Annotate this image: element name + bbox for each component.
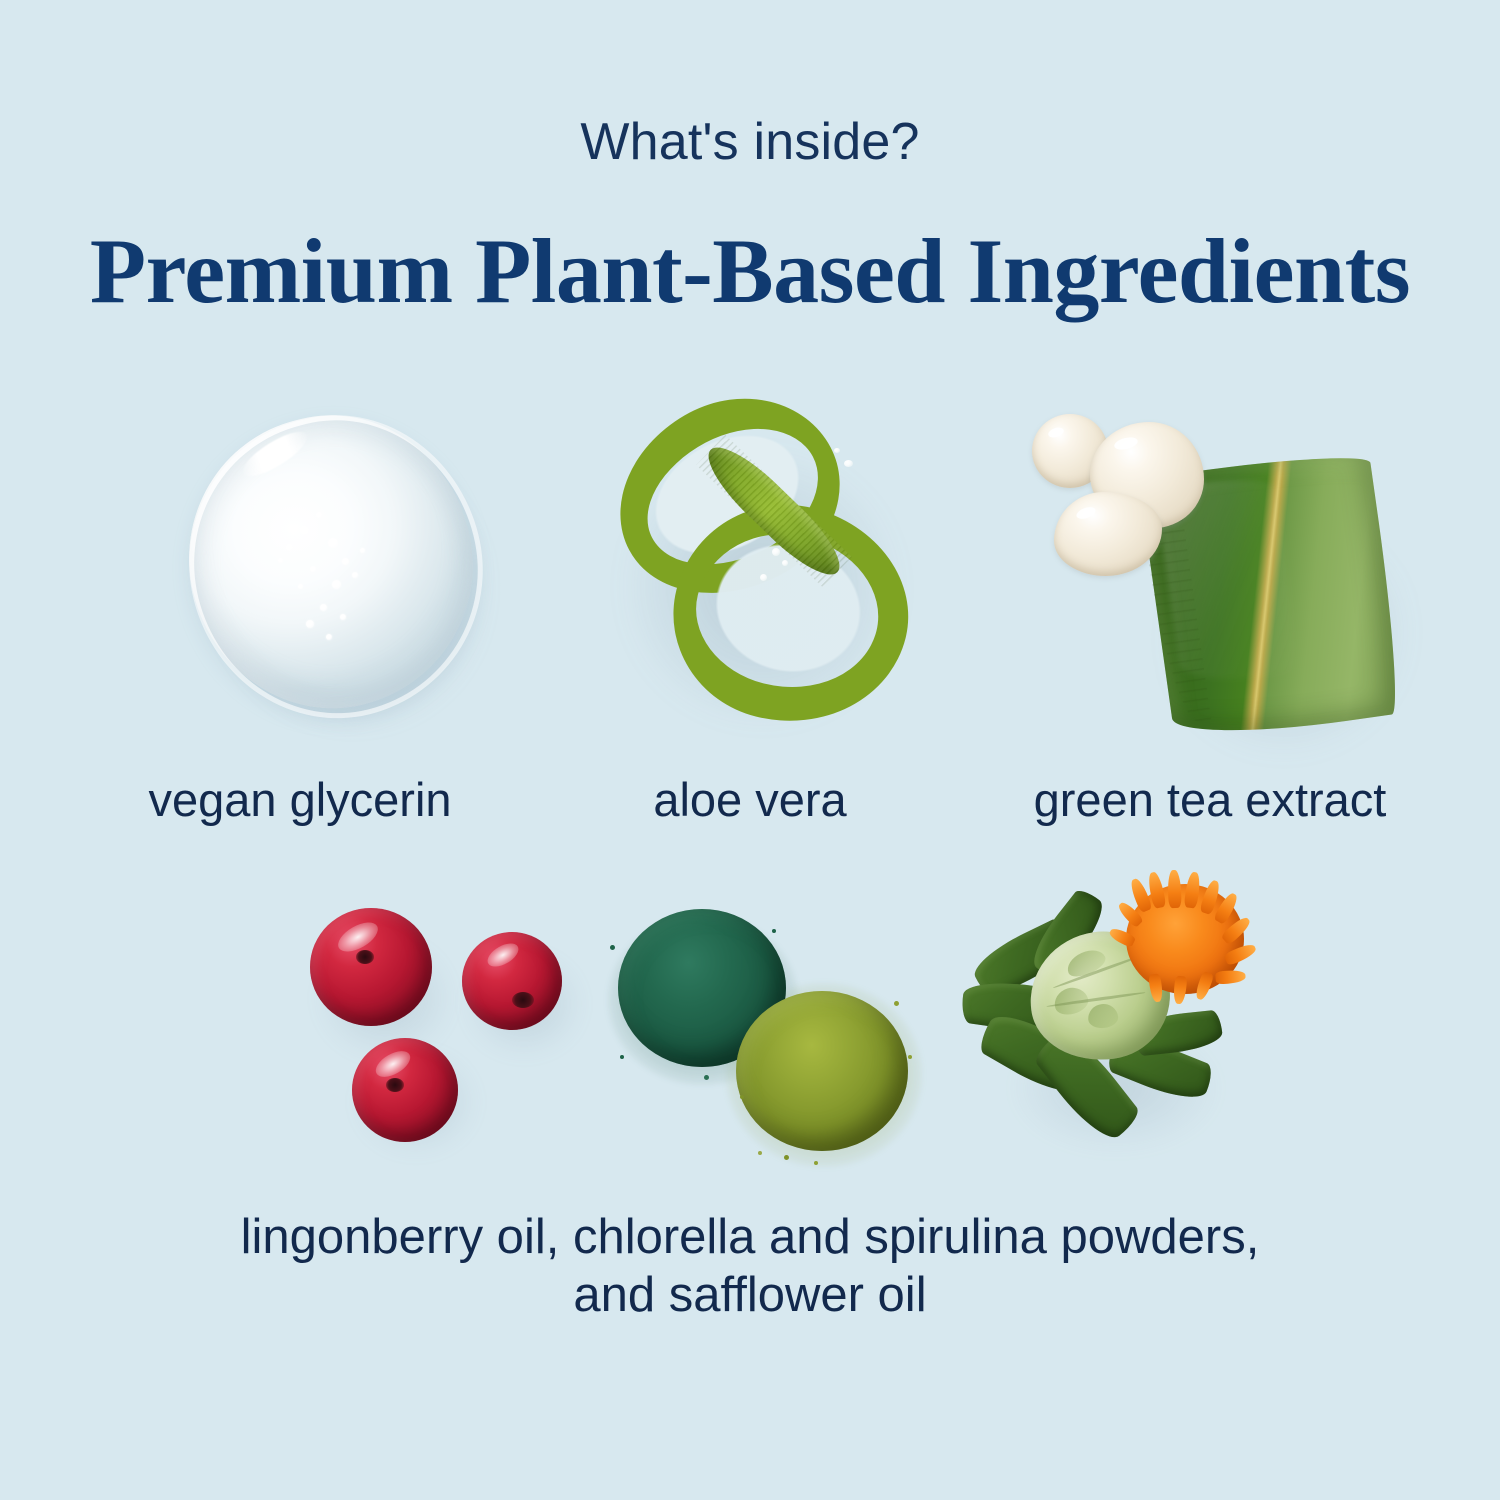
glycerin-bubble bbox=[310, 566, 316, 572]
powder-grain bbox=[758, 1151, 762, 1155]
glycerin-bubble bbox=[278, 558, 283, 563]
ingredient-label-green-tea-extract: green tea extract bbox=[930, 772, 1490, 827]
glycerin-bubble bbox=[360, 548, 365, 553]
aloe-gel-droplet bbox=[834, 448, 840, 453]
powder-grain bbox=[740, 1095, 744, 1099]
powder-grain bbox=[894, 1001, 899, 1006]
aloe-gel-droplet bbox=[844, 460, 853, 467]
glycerin-gel-rim bbox=[158, 385, 514, 749]
powder-grain bbox=[814, 1161, 818, 1165]
aloe-vera-image bbox=[600, 398, 930, 738]
aloe-gel-droplet bbox=[760, 574, 767, 581]
powder-grain bbox=[610, 945, 615, 950]
glycerin-bubble bbox=[298, 584, 303, 589]
ingredient-label-vegan-glycerin: vegan glycerin bbox=[0, 772, 600, 827]
green-tea-extract-image bbox=[1018, 404, 1418, 756]
lingonberry-calyx bbox=[512, 992, 534, 1008]
vegan-glycerin-image bbox=[182, 408, 492, 733]
glycerin-bubble bbox=[340, 614, 346, 620]
safflower-image bbox=[958, 878, 1268, 1168]
powders-image bbox=[608, 905, 928, 1170]
glycerin-bubble bbox=[328, 538, 338, 548]
eyebrow-text: What's inside? bbox=[0, 112, 1500, 172]
chlorella-powder-pile bbox=[736, 991, 908, 1151]
lingonberry-image bbox=[300, 898, 600, 1148]
glycerin-bubble bbox=[320, 604, 327, 611]
row2-caption-line2: and safflower oil bbox=[0, 1266, 1500, 1324]
glycerin-bubble bbox=[352, 572, 358, 578]
glycerin-bubble bbox=[326, 634, 332, 640]
glycerin-bubble bbox=[300, 526, 309, 535]
row2-caption: lingonberry oil, chlorella and spirulina… bbox=[0, 1208, 1500, 1324]
powder-grain bbox=[784, 1155, 789, 1160]
powder-grain bbox=[620, 1055, 624, 1059]
ingredient-label-aloe-vera: aloe vera bbox=[540, 772, 960, 827]
ingredients-poster: What's inside? Premium Plant-Based Ingre… bbox=[0, 0, 1500, 1500]
safflower-petal bbox=[1173, 975, 1188, 1004]
powder-grain bbox=[772, 929, 776, 933]
safflower-petal bbox=[1167, 870, 1181, 908]
glycerin-bubble bbox=[316, 512, 322, 518]
glycerin-bubble bbox=[332, 580, 341, 589]
safflower-petal bbox=[1215, 969, 1246, 984]
lingonberry-calyx bbox=[386, 1078, 404, 1092]
glycerin-bubble bbox=[306, 620, 314, 628]
powder-grain bbox=[704, 1075, 709, 1080]
row2-caption-line1: lingonberry oil, chlorella and spirulina… bbox=[0, 1208, 1500, 1266]
glycerin-bubble bbox=[286, 544, 293, 551]
powder-grain bbox=[908, 1055, 912, 1059]
glycerin-bubble bbox=[342, 558, 349, 565]
lingonberry-calyx bbox=[356, 950, 374, 964]
oil-droplet-lower bbox=[1054, 492, 1162, 576]
aloe-gel-droplet bbox=[782, 560, 788, 566]
aloe-gel-droplet bbox=[772, 548, 780, 556]
page-title: Premium Plant-Based Ingredients bbox=[0, 218, 1500, 324]
